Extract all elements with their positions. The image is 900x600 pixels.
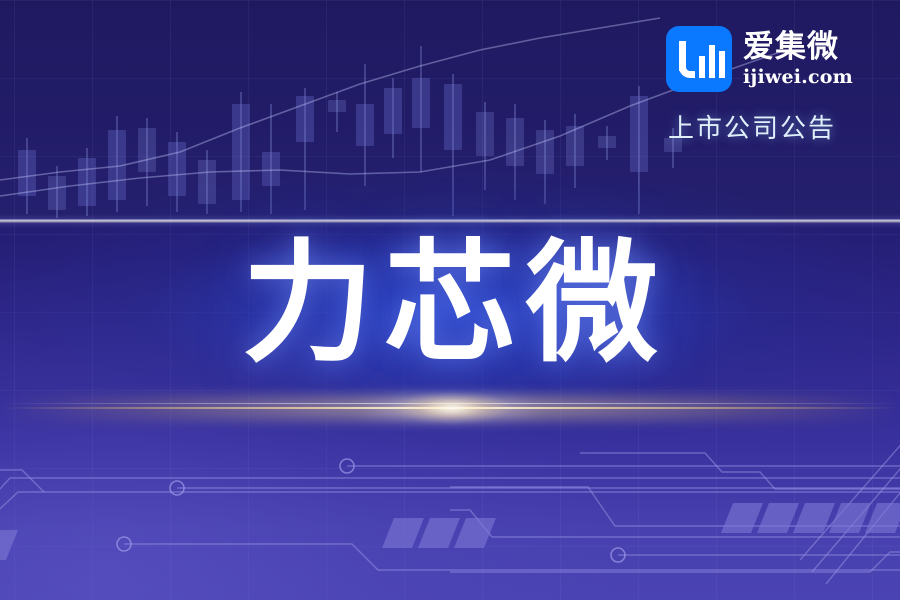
brand-wordmark: 爱集微 ijiwei.com	[743, 32, 853, 87]
announcement-banner: 爱集微 ijiwei.com 上市公司公告 力芯微	[0, 0, 900, 600]
brand-logo-row: 爱集微 ijiwei.com	[666, 22, 876, 96]
brand-name-cn: 爱集微	[743, 32, 853, 63]
brand-logo-block: 爱集微 ijiwei.com 上市公司公告	[666, 22, 876, 145]
bar-chart-j-logo-icon	[666, 26, 732, 92]
light-streak-flare	[392, 386, 512, 430]
slanted-bar-group	[0, 503, 900, 560]
brand-domain: ijiwei.com	[743, 68, 853, 87]
banner-subtitle: 上市公司公告	[666, 108, 876, 145]
company-title: 力芯微	[0, 238, 900, 370]
